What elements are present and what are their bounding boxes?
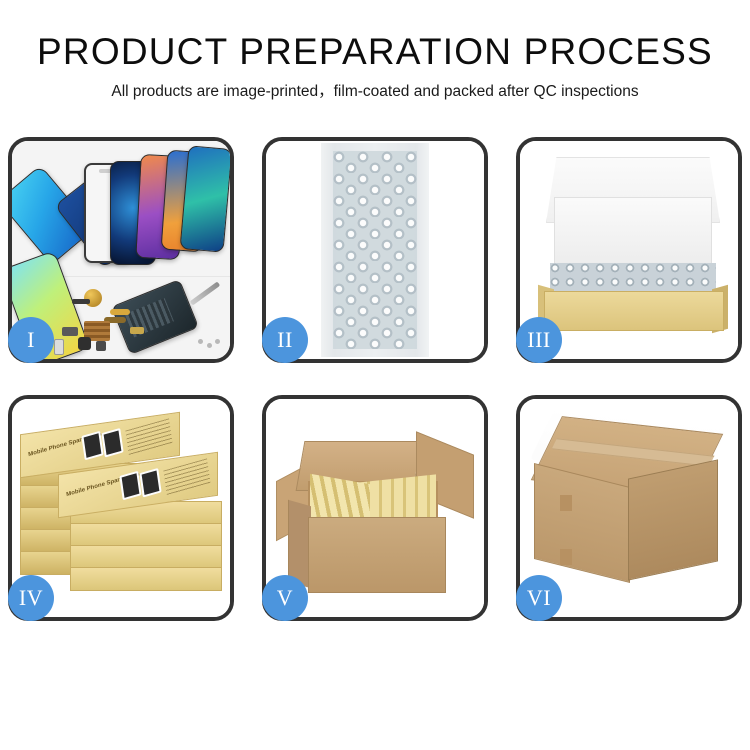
page-title: PRODUCT PREPARATION PROCESS	[0, 30, 750, 74]
part-battery-icon	[54, 339, 64, 355]
speaker-part-icon	[84, 289, 102, 307]
header: PRODUCT PREPARATION PROCESS All products…	[0, 0, 750, 103]
box-checklist-lines	[163, 458, 210, 495]
stacked-box	[70, 545, 222, 569]
step-panel-4[interactable]: Mobile Phone Spare Parts Mobile Phone Sp…	[8, 395, 234, 621]
part-camera-icon	[78, 337, 91, 350]
step-badge-2: II	[262, 317, 308, 363]
bubble-texture-icon	[333, 151, 417, 349]
step-panel-3[interactable]: III	[516, 137, 742, 363]
carton-front-panel	[308, 517, 446, 593]
box-phone-image-icon	[81, 431, 103, 461]
part-module-icon	[62, 327, 78, 336]
phone-teal-icon	[180, 145, 230, 252]
screws-icon	[198, 339, 220, 349]
step-badge-3: III	[516, 317, 562, 363]
process-steps-grid: I II III	[8, 137, 742, 621]
part-flex-cable-icon	[110, 309, 130, 315]
carton-seam-upper	[560, 495, 572, 511]
foam-sheet-icon	[554, 197, 712, 265]
box-front-panel	[544, 291, 724, 331]
step-badge-6: VI	[516, 575, 562, 621]
carton-right-panel	[628, 459, 718, 580]
step-panel-1[interactable]: I	[8, 137, 234, 363]
part-strip-icon	[72, 299, 90, 304]
box-phone-image-icon	[119, 471, 141, 501]
part-ribbon-icon	[130, 327, 144, 334]
step-panel-2[interactable]: II	[262, 137, 488, 363]
step-badge-4: IV	[8, 575, 54, 621]
box-phone-image-icon	[139, 468, 161, 498]
stacked-box	[70, 567, 222, 591]
box-phone-image-icon	[101, 428, 123, 458]
page-subtitle: All products are image-printed，film-coat…	[0, 81, 750, 103]
box-checklist-lines	[125, 418, 172, 455]
step-badge-1: I	[8, 317, 54, 363]
box-stack: Mobile Phone Spare Parts Mobile Phone Sp…	[16, 417, 230, 607]
part-small-icon	[96, 341, 106, 351]
bubble-wrap-bag	[321, 143, 429, 357]
stacked-box	[70, 523, 222, 547]
bubble-wrapped-item-icon	[550, 263, 716, 293]
step-badge-5: V	[262, 575, 308, 621]
step-panel-5[interactable]: V	[262, 395, 488, 621]
step-panel-6[interactable]: VI	[516, 395, 742, 621]
carton-seam-lower	[560, 549, 572, 565]
